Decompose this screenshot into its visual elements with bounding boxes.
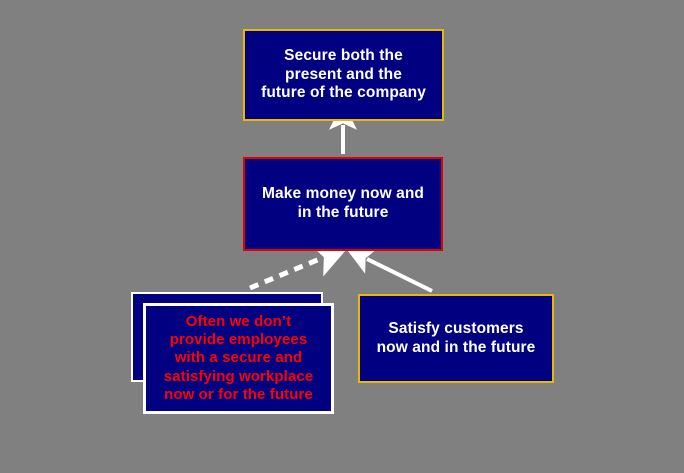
node-satisfy-customers[interactable]: Satisfy customers now and in the future [358, 294, 554, 383]
connector-employees-to-money [250, 258, 322, 288]
node-secure-present-future[interactable]: Secure both the present and the future o… [243, 29, 444, 121]
node-make-money[interactable]: Make money now and in the future [243, 157, 443, 251]
node-employees-label: Often we don’t provide employees with a … [164, 313, 314, 404]
diagram-canvas: Secure both the present and the future o… [0, 0, 684, 473]
node-employees-workplace-problem[interactable]: Often we don’t provide employees with a … [143, 303, 334, 414]
node-secure-label: Secure both the present and the future o… [261, 47, 426, 104]
node-make-money-label: Make money now and in the future [262, 185, 424, 223]
connector-customers-to-money [367, 259, 432, 291]
node-satisfy-customers-label: Satisfy customers now and in the future [377, 320, 536, 358]
